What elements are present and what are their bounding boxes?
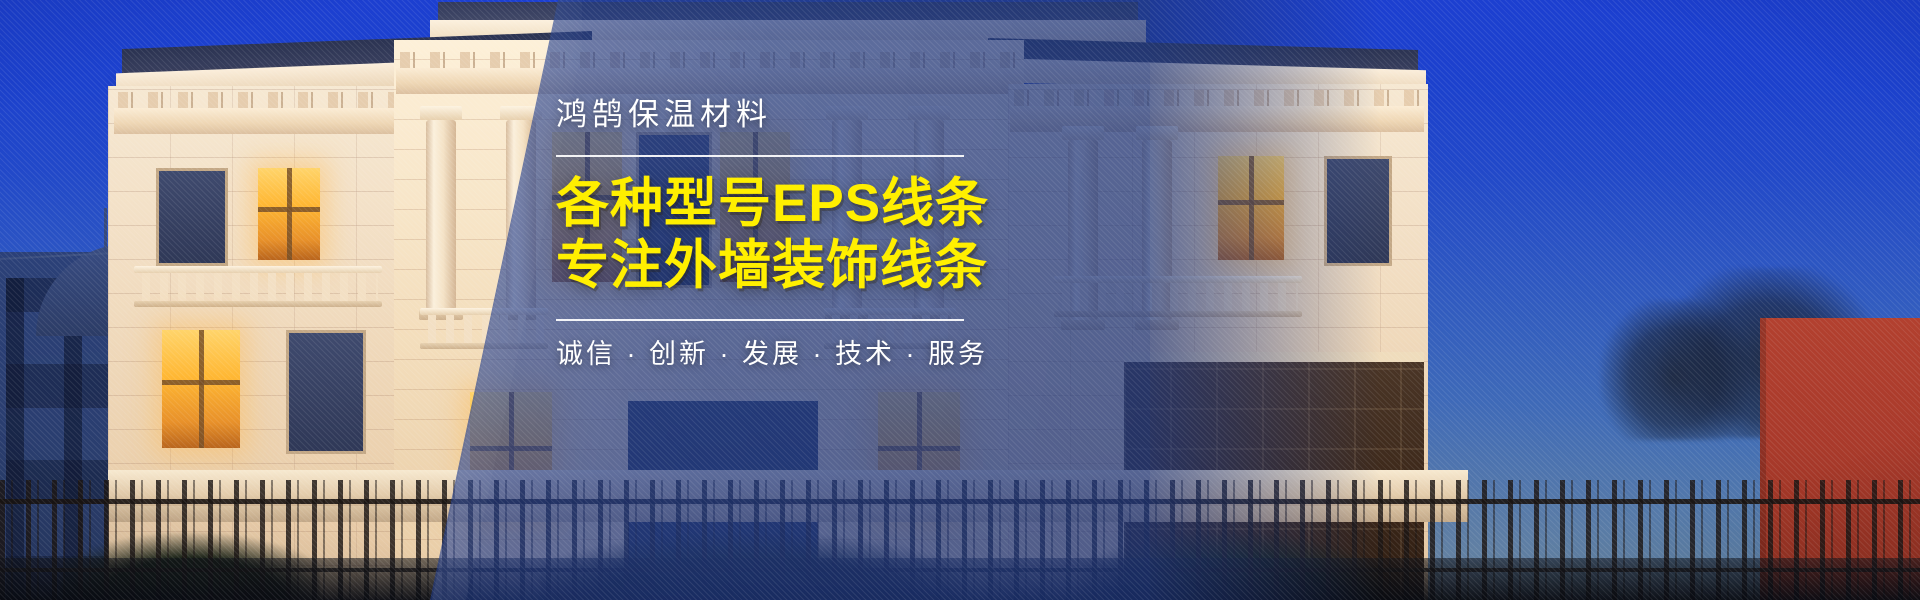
left-wing-window-1 [156,168,228,266]
background-tree-2 [1600,300,1750,440]
column-1 [426,120,456,310]
left-wing-dentils [118,92,408,108]
brand-name: 鸿鹄保温材料 [556,96,1026,135]
left-wing-balustrade [138,272,378,302]
left-wing-cornice [114,108,410,134]
left-wing-window-3 [286,330,366,454]
headline-line-2: 专注外墙装饰线条 [556,235,1026,297]
banner-copy-block: 鸿鹄保温材料 各种型号EPS线条 专注外墙装饰线条 诚信 · 创新 · 发展 ·… [556,96,1026,372]
headline-line-1: 各种型号EPS线条 [556,173,1026,235]
promo-banner: 鸿鹄保温材料 各种型号EPS线条 专注外墙装饰线条 诚信 · 创新 · 发展 ·… [0,0,1920,600]
tagline: 诚信 · 创新 · 发展 · 技术 · 服务 [556,337,1026,372]
distant-spire [104,208,107,254]
left-wing-window-lit [258,168,320,260]
divider-top [556,155,964,157]
blue-overlay-fade [1150,0,1380,600]
divider-bottom [556,319,964,321]
left-wing-window-2 [162,330,240,448]
